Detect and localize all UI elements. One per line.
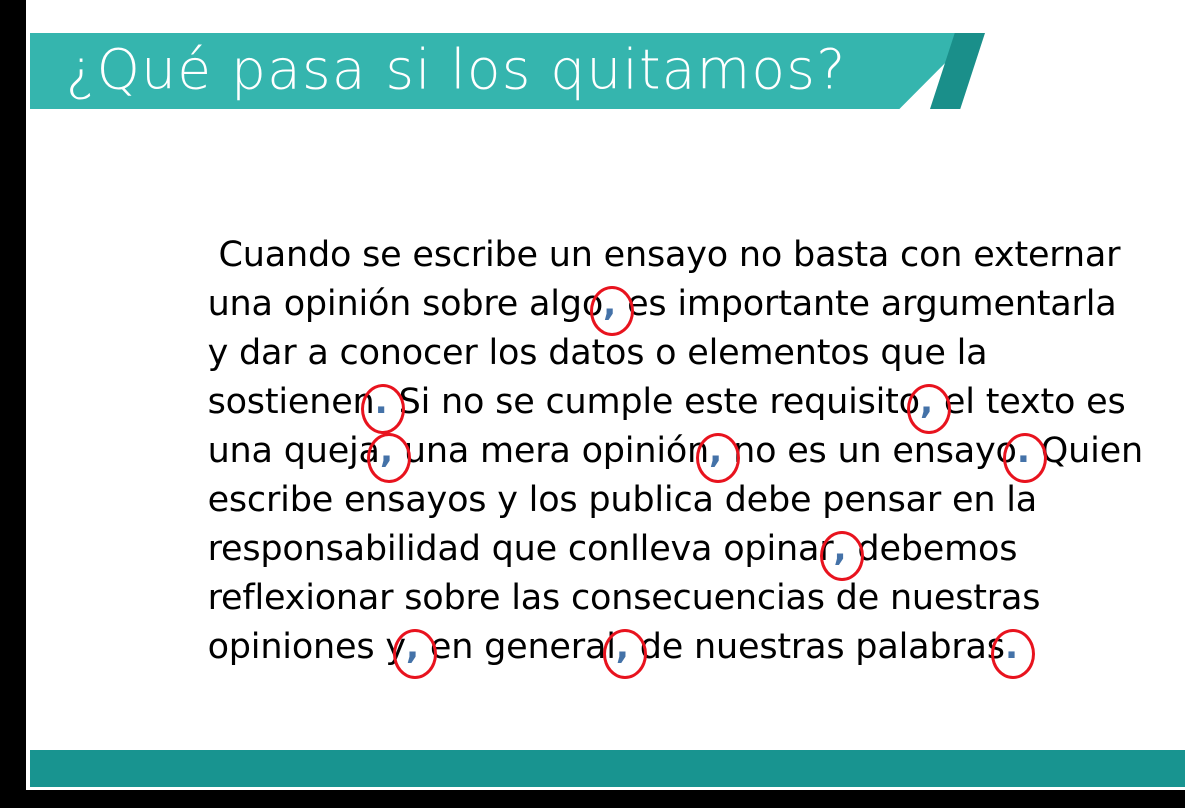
punctuation-comma: , <box>616 627 629 667</box>
line-9-text-c: de nuestras palabras <box>629 627 1005 667</box>
body-line-5: una queja, una mera opinión, no es un en… <box>142 378 1142 427</box>
title-band: ¿Qué pasa si los quitamos? <box>30 33 975 109</box>
body-line-1: Cuando se escribe un ensayo no basta con… <box>142 182 1142 231</box>
line-9-text-a: opiniones y <box>208 627 406 667</box>
bottom-band <box>30 750 1185 787</box>
body-paragraph: Cuando se escribe un ensayo no basta con… <box>142 182 1142 623</box>
punctuation-period: . <box>1005 627 1018 667</box>
slide-canvas: ¿Qué pasa si los quitamos? Cuando se esc… <box>26 0 1185 790</box>
line-9-text-b: en general <box>419 627 616 667</box>
body-line-3: y dar a conocer los datos o elementos qu… <box>142 280 1142 329</box>
body-line-6: escribe ensayos y los publica debe pensa… <box>142 427 1142 476</box>
page-title: ¿Qué pasa si los quitamos? <box>66 42 847 97</box>
body-line-8: reflexionar sobre las consecuencias de n… <box>142 525 1142 574</box>
punctuation-comma: , <box>406 627 419 667</box>
body-line-7: responsabilidad que conlleva opinar, deb… <box>142 476 1142 525</box>
body-line-2: una opinión sobre algo, es importante ar… <box>142 231 1142 280</box>
body-line-4: sostienen. Si no se cumple este requisit… <box>142 329 1142 378</box>
body-line-9: opiniones y, en general, de nuestras pal… <box>142 574 1142 623</box>
